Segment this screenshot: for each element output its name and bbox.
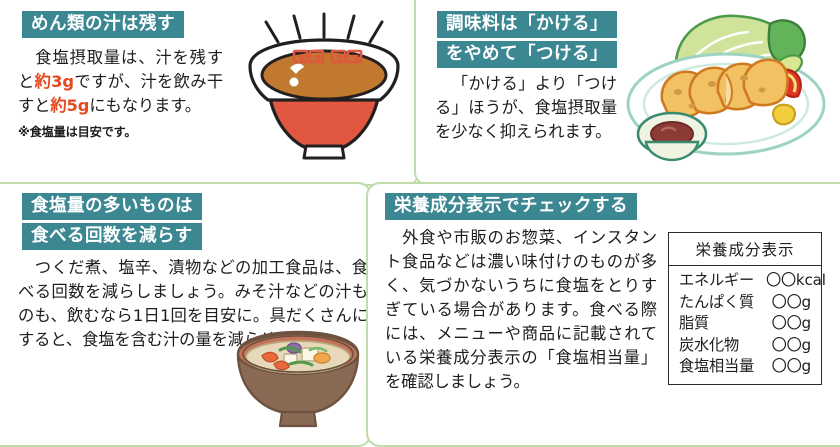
nutrient-value: 〇〇g: [760, 292, 811, 314]
body-seasoning: 「かける」より「つける」ほうが、食塩摂取量を少なく抑えられます。: [435, 72, 617, 144]
table-row: 食塩相当量 〇〇g: [679, 356, 811, 378]
salt-amount-full: 約5g: [50, 96, 89, 115]
ramen-bowl-illustration: [238, 12, 408, 162]
note-noodle-soup: ※食塩量は目安です。: [18, 122, 136, 140]
nutrition-table-body: エネルギー 〇〇kcal たんぱく質 〇〇g 脂質 〇〇g 炭水化物 〇〇g 食…: [669, 266, 821, 384]
salt-amount-remaining: 約3g: [35, 72, 74, 91]
body-noodle-soup: 食塩摂取量は、汁を残すと約3gですが、汁を飲み干すと約5gにもなります。: [18, 46, 223, 118]
heading-line: 調味料は「かける」: [437, 11, 617, 38]
heading-nutrition-label: 栄養成分表示でチェックする: [385, 193, 637, 223]
table-row: たんぱく質 〇〇g: [679, 292, 811, 314]
table-row: エネルギー 〇〇kcal: [679, 270, 811, 292]
heading-line: めん類の汁は残す: [22, 11, 184, 38]
body-seg: と: [18, 72, 35, 91]
nutrient-name: 食塩相当量: [679, 356, 754, 378]
table-row: 脂質 〇〇g: [679, 313, 811, 335]
miso-soup-bowl-illustration: [228, 330, 368, 430]
infographic-root: めん類の汁は残す 食塩摂取量は、汁を残すと約3gですが、汁を飲み干すと約5gにも…: [0, 0, 840, 433]
nutrition-facts-table: 栄養成分表示 エネルギー 〇〇kcal たんぱく質 〇〇g 脂質 〇〇g 炭水化…: [668, 232, 822, 385]
nutrient-value: 〇〇kcal: [754, 270, 826, 292]
heading-line: をやめて「つける」: [437, 41, 617, 68]
nutrient-name: たんぱく質: [679, 292, 754, 314]
heading-line: 食塩量の多いものは: [22, 193, 202, 220]
heading-reduce-frequency: 食塩量の多いものは 食べる回数を減らす: [22, 193, 202, 253]
body-seg: 「かける」より「つける」ほうが、食塩摂取量を少なく抑えられます。: [435, 74, 617, 141]
nutrient-value: 〇〇g: [760, 335, 811, 357]
nutrient-name: 脂質: [679, 313, 709, 335]
body-seg: すと: [18, 96, 50, 115]
body-nutrition-label: 外食や市販のお惣菜、インスタント食品などは濃い味付けのものが多く、気づかないうち…: [385, 226, 657, 394]
table-row: 炭水化物 〇〇g: [679, 335, 811, 357]
nutrient-name: 炭水化物: [679, 335, 739, 357]
heading-line: 栄養成分表示でチェックする: [385, 193, 637, 220]
heading-seasoning: 調味料は「かける」 をやめて「つける」: [437, 11, 617, 71]
nutrient-value: 〇〇g: [760, 356, 811, 378]
heading-line: 食べる回数を減らす: [22, 223, 202, 250]
body-seg: にもなります。: [89, 96, 201, 115]
body-seg: 外食や市販のお惣菜、インスタント食品などは濃い味付けのものが多く、気づかないうち…: [385, 228, 657, 391]
body-seg: ですが、汁を飲み干: [74, 72, 223, 91]
nutrition-table-title: 栄養成分表示: [669, 233, 821, 266]
tonkatsu-plate-illustration: [620, 8, 836, 170]
body-seg: 食塩摂取量は、汁を残す: [34, 48, 223, 67]
nutrient-name: エネルギー: [679, 270, 754, 292]
nutrient-value: 〇〇g: [760, 313, 811, 335]
heading-noodle-soup: めん類の汁は残す: [22, 11, 184, 41]
